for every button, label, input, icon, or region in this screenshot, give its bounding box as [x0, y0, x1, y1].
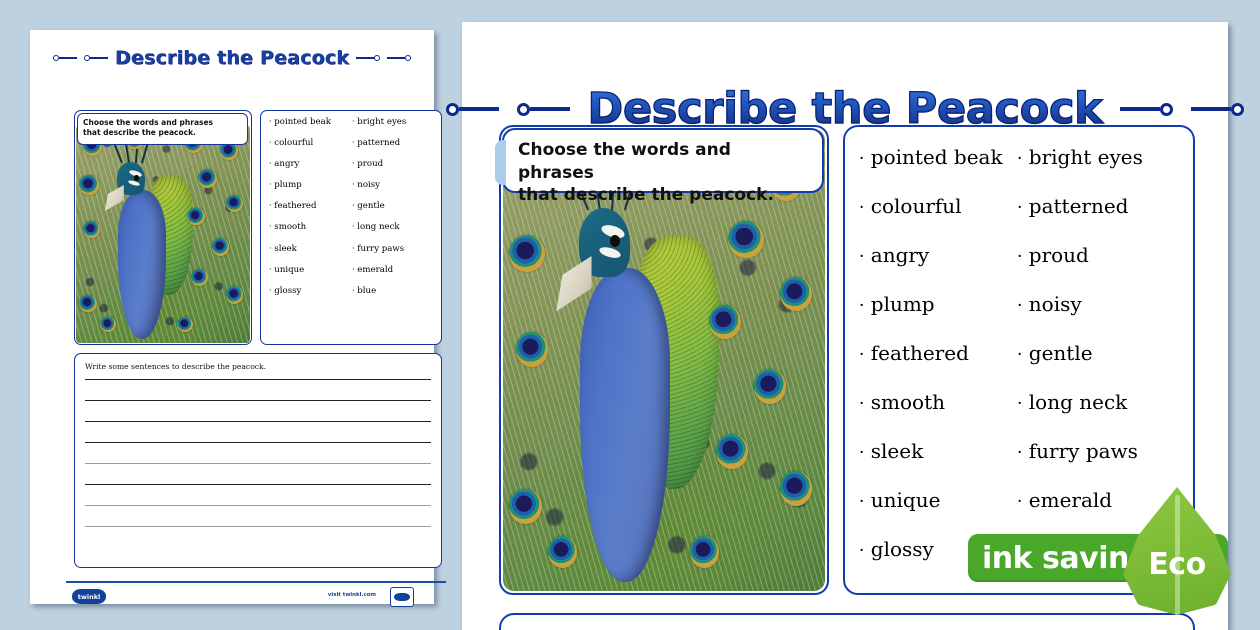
- thumbnail-instruction-box: Choose the words and phrases that descri…: [77, 113, 248, 145]
- footer-rule: [66, 581, 446, 583]
- writing-line[interactable]: [85, 505, 431, 506]
- word-item[interactable]: · unique: [269, 266, 352, 275]
- peacock-beak: [556, 256, 591, 311]
- peacock-beak: [105, 185, 124, 211]
- word-item[interactable]: · emerald: [352, 266, 435, 275]
- word-column-left: · pointed beak · colourful · angry · plu…: [859, 147, 1017, 588]
- word-item[interactable]: · smooth: [269, 223, 352, 232]
- writing-line[interactable]: [85, 463, 431, 464]
- title-decoration-left: [446, 103, 570, 116]
- word-item[interactable]: · glossy: [269, 287, 352, 296]
- instruction-line-2: that describe the peacock.: [518, 184, 808, 207]
- word-item[interactable]: · bright eyes: [1017, 147, 1183, 168]
- ink-saving-eco-badge[interactable]: ink saving Eco: [968, 529, 1260, 587]
- word-item[interactable]: · sleek: [269, 245, 352, 254]
- word-item[interactable]: · plump: [269, 181, 352, 190]
- peacock-photo: [76, 125, 250, 343]
- title-decoration-left: [53, 55, 108, 61]
- screenshot-stage: Describe the Peacock: [0, 0, 1260, 630]
- word-item[interactable]: · patterned: [1017, 196, 1183, 217]
- eco-leaf-label: Eco: [1123, 547, 1231, 582]
- word-item[interactable]: · patterned: [352, 139, 435, 148]
- word-column-right: · bright eyes · patterned · proud · nois…: [352, 118, 435, 308]
- circle-icon: [1231, 103, 1244, 116]
- title-decoration-right: [356, 55, 411, 61]
- line-icon: [1120, 107, 1160, 110]
- word-item[interactable]: · bright eyes: [352, 118, 435, 127]
- word-item[interactable]: · noisy: [352, 181, 435, 190]
- peacock-neck: [118, 190, 167, 338]
- circle-icon: [405, 55, 411, 61]
- line-icon: [530, 107, 570, 110]
- word-item[interactable]: · long neck: [1017, 392, 1183, 413]
- circle-icon: [1160, 103, 1173, 116]
- writing-area[interactable]: Write some sentences to describe the pea…: [499, 613, 1195, 630]
- line-icon: [59, 57, 77, 59]
- write-prompt: Write some sentences to describe the pea…: [85, 362, 431, 371]
- word-item[interactable]: · furry paws: [352, 245, 435, 254]
- word-item[interactable]: · gentle: [1017, 343, 1183, 364]
- twinkl-logo[interactable]: twinkl: [72, 589, 106, 604]
- word-item[interactable]: · feathered: [859, 343, 1017, 364]
- line-icon: [1191, 107, 1231, 110]
- twinkl-badge-icon: [390, 587, 414, 607]
- instruction-line-1: Choose the words and phrases: [518, 139, 808, 184]
- thumbnail-writing-area[interactable]: Write some sentences to describe the pea…: [74, 353, 442, 568]
- line-icon: [90, 57, 108, 59]
- writing-line[interactable]: [85, 400, 431, 401]
- thumbnail-word-bank: · pointed beak · colourful · angry · plu…: [260, 110, 442, 345]
- word-item[interactable]: · angry: [269, 160, 352, 169]
- word-item[interactable]: · noisy: [1017, 294, 1183, 315]
- page-title: Describe the Peacock: [108, 47, 356, 69]
- writing-line[interactable]: [85, 421, 431, 422]
- instruction-box: Choose the words and phrases that descri…: [502, 128, 824, 193]
- word-item[interactable]: · angry: [859, 245, 1017, 266]
- word-item[interactable]: · colourful: [859, 196, 1017, 217]
- instruction-line-2: that describe the peacock.: [83, 128, 242, 138]
- word-item[interactable]: · proud: [1017, 245, 1183, 266]
- title-decoration-right: [1120, 103, 1244, 116]
- peacock-image: [76, 125, 250, 343]
- thumbnail-page[interactable]: Describe the Peacock: [30, 30, 434, 604]
- word-bank: · pointed beak · colourful · angry · plu…: [843, 125, 1195, 595]
- word-item[interactable]: · gentle: [352, 202, 435, 211]
- peacock-neck: [580, 268, 670, 582]
- thumbnail-title-row: Describe the Peacock: [30, 44, 434, 72]
- instruction-line-1: Choose the words and phrases: [83, 118, 242, 128]
- circle-icon: [446, 103, 459, 116]
- word-item[interactable]: · long neck: [352, 223, 435, 232]
- line-icon: [459, 107, 499, 110]
- word-item[interactable]: · blue: [352, 287, 435, 296]
- word-item[interactable]: · emerald: [1017, 490, 1183, 511]
- writing-line[interactable]: [85, 442, 431, 443]
- line-icon: [387, 57, 405, 59]
- word-item[interactable]: · smooth: [859, 392, 1017, 413]
- word-column-left: · pointed beak · colourful · angry · plu…: [269, 118, 352, 308]
- word-item[interactable]: · feathered: [269, 202, 352, 211]
- circle-icon: [517, 103, 530, 116]
- word-item[interactable]: · plump: [859, 294, 1017, 315]
- word-item[interactable]: · unique: [859, 490, 1017, 511]
- word-item[interactable]: · pointed beak: [269, 118, 352, 127]
- writing-line[interactable]: [85, 484, 431, 485]
- writing-line[interactable]: [85, 526, 431, 527]
- word-item[interactable]: · proud: [352, 160, 435, 169]
- word-item[interactable]: · colourful: [269, 139, 352, 148]
- word-item[interactable]: · furry paws: [1017, 441, 1183, 462]
- writing-line[interactable]: [85, 379, 431, 380]
- line-icon: [356, 57, 374, 59]
- word-item[interactable]: · pointed beak: [859, 147, 1017, 168]
- visit-link[interactable]: visit twinkl.com: [328, 592, 376, 598]
- circle-icon: [374, 55, 380, 61]
- word-item[interactable]: · sleek: [859, 441, 1017, 462]
